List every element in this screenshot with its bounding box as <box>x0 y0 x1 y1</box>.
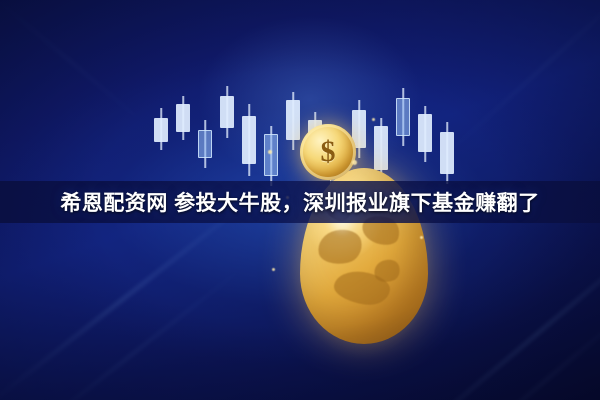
headline-text: 希恩配资网 参投大牛股，深圳报业旗下基金赚翻了 <box>0 181 600 223</box>
promo-banner: $ 希恩配资网 参投大牛股，深圳报业旗下基金赚翻了 <box>0 0 600 400</box>
